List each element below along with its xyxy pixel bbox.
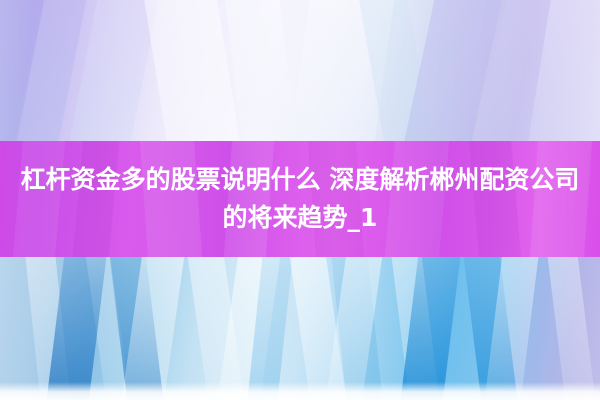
bottom-fade-overlay: [0, 382, 600, 400]
cover-title: 杠杆资金多的股票说明什么 深度解析郴州配资公司 的将来趋势_1: [0, 141, 600, 257]
article-cover-image: 杠杆资金多的股票说明什么 深度解析郴州配资公司 的将来趋势_1: [0, 0, 600, 400]
decorative-beam: [546, 257, 598, 400]
magenta-title-band: 杠杆资金多的股票说明什么 深度解析郴州配资公司 的将来趋势_1: [0, 141, 600, 257]
bottom-gradient-band: [0, 257, 600, 400]
top-gradient-band: [0, 0, 600, 141]
title-line-1: 杠杆资金多的股票说明什么 深度解析郴州配资公司: [21, 161, 580, 199]
title-line-2: 的将来趋势_1: [223, 199, 378, 237]
